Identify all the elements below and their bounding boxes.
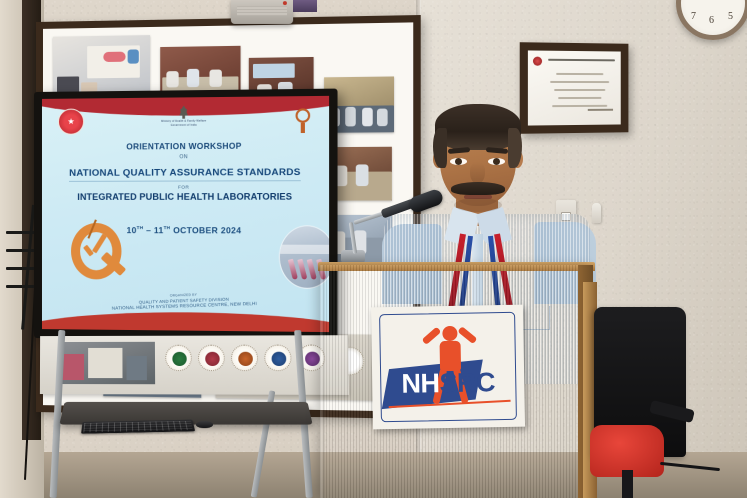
nose bbox=[470, 162, 485, 184]
lab-tube bbox=[288, 259, 298, 280]
q-checkmark-icon bbox=[83, 237, 103, 263]
slide-seal-left-icon: ★ bbox=[58, 109, 84, 135]
eye-right bbox=[488, 158, 505, 165]
slide-logo-right-icon bbox=[291, 108, 314, 135]
slide-subject: NATIONAL QUALITY ASSURANCE STANDARDS bbox=[69, 167, 300, 182]
clock-number-5: 5 bbox=[728, 11, 733, 22]
mouse[interactable] bbox=[196, 421, 213, 428]
panel-photo bbox=[58, 342, 155, 384]
wall-sensor-icon bbox=[592, 203, 601, 223]
emblem-lion-icon bbox=[178, 105, 189, 118]
date-rest: OCTOBER 2024 bbox=[170, 225, 241, 235]
date-sup-1: TH bbox=[137, 225, 144, 230]
ministry-line-2: Government of India bbox=[135, 123, 233, 127]
slide-organizer-block: ORGANIZED BY QUALITY AND PATIENT SAFETY … bbox=[42, 288, 329, 313]
keyboard-keys bbox=[83, 421, 193, 433]
speaker-person bbox=[388, 106, 588, 276]
figure-body bbox=[440, 341, 462, 371]
presentation-display: ★ Ministry of Health & Family Welfare Go… bbox=[34, 89, 338, 342]
lab-bench bbox=[280, 245, 329, 254]
lab-tube bbox=[307, 259, 317, 280]
nhsrc-wordmark: NHSRC bbox=[372, 367, 525, 401]
accreditation-seal-icon bbox=[231, 345, 258, 372]
clock-number-7: 7 bbox=[691, 11, 696, 22]
nhsrc-text-white: NH bbox=[401, 368, 440, 399]
slide-connector-on: ON bbox=[42, 153, 329, 161]
figure-head bbox=[442, 326, 457, 341]
accreditation-seal-icon bbox=[198, 345, 225, 371]
accreditation-seal-icon bbox=[165, 345, 192, 371]
slide-decor-bottom-red bbox=[42, 311, 329, 332]
wall-fixture bbox=[293, 0, 317, 12]
slide-scope: INTEGRATED PUBLIC HEALTH LABORATORIES bbox=[42, 191, 329, 202]
chin-shadow bbox=[454, 198, 502, 212]
nhsrc-text-blue: SRC bbox=[439, 367, 495, 398]
clock-number-6: 6 bbox=[709, 15, 714, 26]
slide-heading: ORIENTATION WORKSHOP bbox=[42, 141, 329, 152]
air-conditioner-icon bbox=[231, 0, 293, 24]
display-bezel: ★ Ministry of Health & Family Welfare Go… bbox=[34, 89, 338, 342]
office-chair-post bbox=[622, 470, 633, 498]
date-dash: – 11 bbox=[143, 225, 163, 235]
photograph-scene: 7 6 5 bbox=[0, 0, 747, 498]
hair-side-left bbox=[433, 128, 447, 168]
ac-vents bbox=[237, 6, 287, 16]
eye-left bbox=[450, 158, 467, 165]
slide-connector-for: FOR bbox=[42, 184, 329, 190]
podium-left-edge bbox=[320, 265, 325, 498]
certificate-signature bbox=[588, 109, 613, 111]
certificate-seal-icon bbox=[533, 57, 542, 66]
nhsrc-logo-plate: NHSRC bbox=[371, 305, 525, 430]
national-emblem: Ministry of Health & Family Welfare Gove… bbox=[135, 105, 233, 127]
ac-indicator-led bbox=[283, 1, 287, 5]
moustache bbox=[451, 182, 505, 195]
figure-arm-left bbox=[422, 327, 442, 345]
slide-canvas: ★ Ministry of Health & Family Welfare Go… bbox=[42, 96, 329, 332]
quality-q-logo-icon bbox=[68, 221, 131, 288]
lab-tube bbox=[297, 259, 307, 280]
accreditation-seal-icon bbox=[264, 345, 292, 372]
